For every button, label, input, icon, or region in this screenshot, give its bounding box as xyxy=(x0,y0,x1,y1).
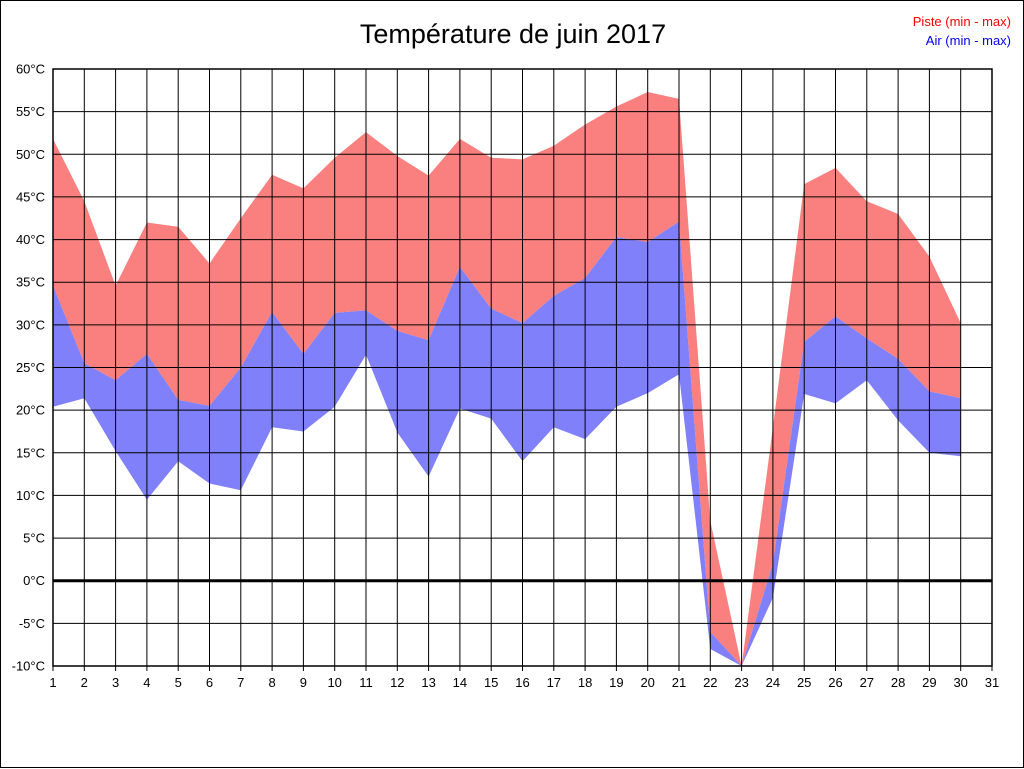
plot-area: 60°C55°C50°C45°C40°C35°C30°C25°C20°C15°C… xyxy=(1,1,1024,769)
y-axis-tick-label: -10°C xyxy=(12,659,45,674)
x-axis-tick-label: 23 xyxy=(734,675,748,690)
x-axis-ticks: 1234567891011121314151617181920212223242… xyxy=(49,666,999,690)
y-axis-tick-label: 40°C xyxy=(16,232,45,247)
y-axis-tick-label: 60°C xyxy=(16,62,45,77)
y-axis-tick-label: 45°C xyxy=(16,189,45,204)
x-axis-tick-label: 11 xyxy=(359,675,373,690)
x-axis-tick-label: 9 xyxy=(300,675,307,690)
x-axis-tick-label: 17 xyxy=(547,675,561,690)
y-axis-tick-label: 20°C xyxy=(16,403,45,418)
y-axis-tick-label: 10°C xyxy=(16,488,45,503)
y-axis-tick-label: 5°C xyxy=(23,531,45,546)
x-axis-tick-label: 7 xyxy=(237,675,244,690)
x-axis-tick-label: 10 xyxy=(327,675,341,690)
x-axis-tick-label: 20 xyxy=(640,675,654,690)
y-axis-tick-label: 0°C xyxy=(23,573,45,588)
y-axis-tick-label: 15°C xyxy=(16,445,45,460)
x-axis-tick-label: 3 xyxy=(112,675,119,690)
x-axis-tick-label: 2 xyxy=(81,675,88,690)
x-axis-tick-label: 26 xyxy=(828,675,842,690)
x-axis-tick-label: 13 xyxy=(421,675,435,690)
x-axis-tick-label: 25 xyxy=(797,675,811,690)
x-axis-tick-label: 29 xyxy=(922,675,936,690)
x-axis-tick-label: 28 xyxy=(891,675,905,690)
x-axis-tick-label: 31 xyxy=(985,675,999,690)
x-axis-tick-label: 5 xyxy=(175,675,182,690)
y-axis-tick-label: 25°C xyxy=(16,360,45,375)
x-axis-tick-label: 21 xyxy=(672,675,686,690)
x-axis-tick-label: 15 xyxy=(484,675,498,690)
x-axis-tick-label: 22 xyxy=(703,675,717,690)
y-axis-ticks: 60°C55°C50°C45°C40°C35°C30°C25°C20°C15°C… xyxy=(12,62,45,674)
y-axis-tick-label: 50°C xyxy=(16,147,45,162)
temperature-area-chart: 60°C55°C50°C45°C40°C35°C30°C25°C20°C15°C… xyxy=(1,1,1024,769)
x-axis-tick-label: 1 xyxy=(49,675,56,690)
x-axis-tick-label: 6 xyxy=(206,675,213,690)
x-axis-tick-label: 18 xyxy=(578,675,592,690)
x-axis-tick-label: 16 xyxy=(515,675,529,690)
x-axis-tick-label: 4 xyxy=(143,675,150,690)
y-axis-tick-label: 55°C xyxy=(16,104,45,119)
x-axis-tick-label: 12 xyxy=(390,675,404,690)
x-axis-tick-label: 14 xyxy=(453,675,467,690)
chart-page: Température de juin 2017 Piste (min - ma… xyxy=(0,0,1024,768)
x-axis-tick-label: 8 xyxy=(268,675,275,690)
y-axis-tick-label: -5°C xyxy=(19,616,45,631)
x-axis-tick-label: 24 xyxy=(766,675,780,690)
x-axis-tick-label: 27 xyxy=(860,675,874,690)
y-axis-tick-label: 35°C xyxy=(16,275,45,290)
y-axis-tick-label: 30°C xyxy=(16,317,45,332)
x-axis-tick-label: 30 xyxy=(953,675,967,690)
x-axis-tick-label: 19 xyxy=(609,675,623,690)
